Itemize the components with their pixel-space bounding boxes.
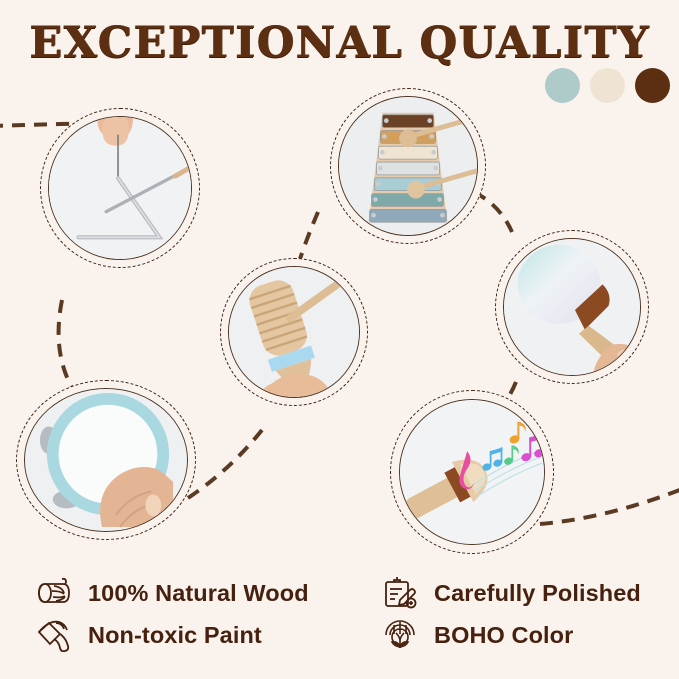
infographic-root: EXCEPTIONAL QUALITY <box>0 0 679 679</box>
feature-natural-wood: 100% Natural Wood <box>34 575 380 611</box>
whistle-illustration <box>400 400 544 544</box>
photo-frame <box>399 399 545 545</box>
paint-brush-icon <box>34 617 74 653</box>
maraca-illustration <box>504 239 640 375</box>
photo-frame <box>338 96 478 236</box>
page-title: EXCEPTIONAL QUALITY <box>0 18 679 68</box>
photo-frame <box>503 238 641 376</box>
triangle-illustration <box>49 117 191 259</box>
feature-label: Non-toxic Paint <box>88 622 262 649</box>
feature-list: 100% Natural Wood <box>34 572 654 656</box>
wood-log-icon <box>34 575 74 611</box>
photo-whistle <box>390 390 554 554</box>
photo-triangle-instrument <box>40 108 200 268</box>
color-swatch-group <box>545 68 670 103</box>
guiro-illustration <box>229 267 359 397</box>
feature-boho-color: BOHO Color <box>380 617 654 653</box>
photo-frame <box>24 388 188 532</box>
photo-frame <box>228 266 360 398</box>
xylophone-illustration <box>339 97 477 235</box>
clipboard-check-icon <box>380 575 420 611</box>
swatch-cream <box>590 68 625 103</box>
swatch-dark-brown <box>635 68 670 103</box>
feature-label: 100% Natural Wood <box>88 580 309 607</box>
photo-xylophone <box>330 88 486 244</box>
feature-label: Carefully Polished <box>434 580 641 607</box>
swatch-sage-blue <box>545 68 580 103</box>
photo-maraca <box>495 230 649 384</box>
photo-frame <box>48 116 192 260</box>
tambourine-illustration <box>25 389 187 531</box>
boho-sun-icon <box>380 617 420 653</box>
feature-nontoxic-paint: Non-toxic Paint <box>34 617 380 653</box>
feature-label: BOHO Color <box>434 622 573 649</box>
photo-guiro-scraper <box>220 258 368 406</box>
feature-carefully-polished: Carefully Polished <box>380 575 654 611</box>
photo-tambourine <box>16 380 196 540</box>
